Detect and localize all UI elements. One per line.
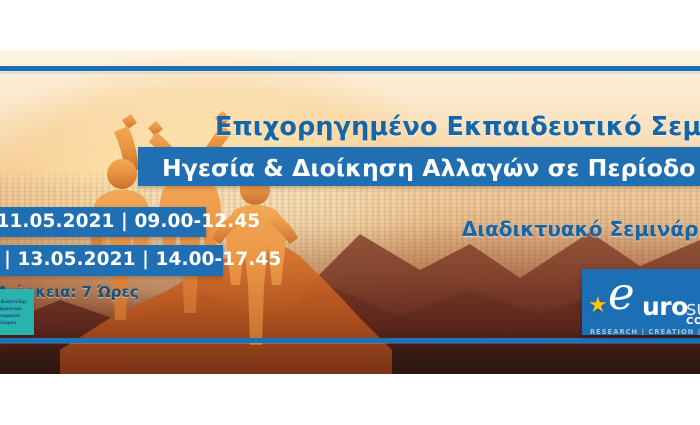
eurosuccess-word-sub: success bbox=[686, 298, 700, 318]
hrda-line-3: Δυναμικού bbox=[0, 314, 32, 319]
seminar-headline: Επιχορηγημένο Εκπαιδευτικό Σεμινάριο bbox=[215, 112, 700, 142]
session-date-bar-2: Πέμπτη | 13.05.2021 | 14.00-17.45 bbox=[0, 245, 223, 276]
eurosuccess-tagline: RESEARCH | CREATION | DEVELOPMENT bbox=[590, 328, 700, 335]
seminar-banner: Επιχορηγημένο Εκπαιδευτικό Σεμινάριο Ηγε… bbox=[0, 50, 700, 374]
session-date-text-1: Τρίτη | 11.05.2021 | 09.00-12.45 bbox=[0, 211, 260, 232]
seminar-subtitle-text: Ηγεσία & Διοίκηση Αλλαγών σε Περίοδο Κρί… bbox=[162, 154, 700, 182]
star-icon: ★ bbox=[588, 295, 610, 317]
hrda-cyprus-logo: Αρχή Ανάπτυξης Ανθρώπινου Δυναμικού Κύπρ… bbox=[0, 289, 34, 335]
session-date-bar-1: Τρίτη | 11.05.2021 | 09.00-12.45 bbox=[0, 207, 206, 237]
seminar-format-label: Διαδικτυακό Σεμινάριο bbox=[300, 217, 700, 241]
top-divider-rule bbox=[0, 66, 700, 71]
hrda-line-2: Ανθρώπινου bbox=[0, 307, 32, 312]
hrda-line-4: Κύπρου bbox=[0, 321, 32, 326]
eurosuccess-consulting-text: CONSULTING bbox=[686, 317, 700, 327]
session-date-text-2: Πέμπτη | 13.05.2021 | 14.00-17.45 bbox=[0, 249, 281, 270]
bottom-divider-rule bbox=[0, 338, 700, 343]
eurosuccess-e-mark: e bbox=[608, 271, 635, 316]
eurosuccess-consulting-logo: ★ e uro success CONSULTING RESEARCH | CR… bbox=[582, 269, 700, 335]
seminar-subtitle-bar: Ηγεσία & Διοίκηση Αλλαγών σε Περίοδο Κρί… bbox=[138, 147, 700, 186]
eurosuccess-word-main: uro bbox=[642, 294, 688, 319]
hrda-line-1: Αρχή Ανάπτυξης bbox=[0, 300, 32, 305]
banner-image-canvas: Επιχορηγημένο Εκπαιδευτικό Σεμινάριο Ηγε… bbox=[0, 0, 700, 425]
